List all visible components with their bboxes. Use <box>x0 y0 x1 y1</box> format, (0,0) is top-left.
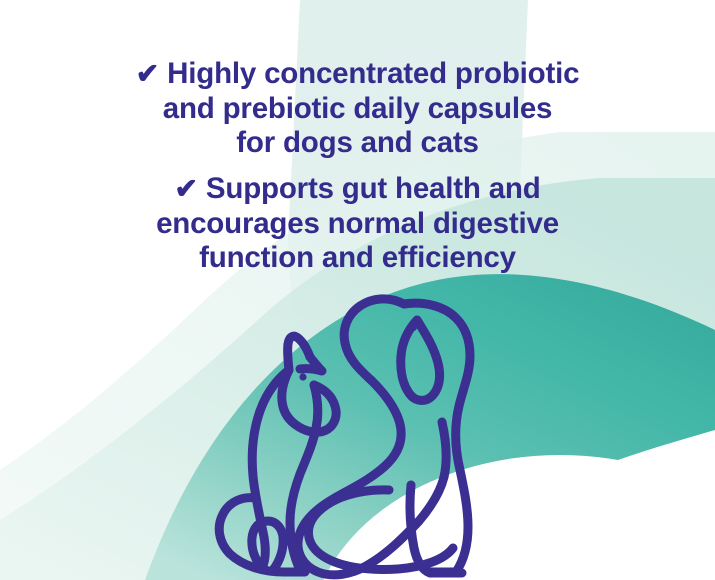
bullet-2-line-2: encourages normal digestive <box>60 207 655 242</box>
check-mark-icon: ✔ <box>174 173 197 204</box>
bullet-1-line-3: for dogs and cats <box>60 126 655 161</box>
bullet-1-line-2: and prebiotic daily capsules <box>60 92 655 127</box>
cat-spine <box>252 370 289 568</box>
cat-ear-left <box>288 336 310 370</box>
check-mark-icon: ✔ <box>136 58 159 89</box>
bullet-2-line-3: function and efficiency <box>60 241 655 276</box>
bullet-2-text-1: Supports gut health and <box>206 172 541 205</box>
bullet-2-line-1: ✔ Supports gut health and <box>60 172 655 207</box>
dog-front-leg <box>410 485 462 573</box>
cat-ear-right <box>300 357 322 371</box>
dog-muzzle-underline <box>419 422 446 521</box>
cat-hind-leg <box>252 521 283 570</box>
white-crescent-cutout <box>444 430 715 580</box>
dog-ear <box>401 320 440 400</box>
white-ellipse-cutout <box>310 455 715 580</box>
feature-bullet-1: ✔ Highly concentrated probiotic and preb… <box>60 57 655 161</box>
dog-eye <box>409 323 417 331</box>
bullet-1-line-1: ✔ Highly concentrated probiotic <box>60 57 655 92</box>
dog-back-and-hind <box>404 303 470 572</box>
cat-eye <box>299 373 306 380</box>
cat-chest-and-foreleg <box>290 385 318 570</box>
feature-bullet-2: ✔ Supports gut health and encourages nor… <box>60 172 655 276</box>
bullet-1-text-1: Highly concentrated probiotic <box>167 57 579 90</box>
cat-tail <box>219 498 305 572</box>
dog-tail <box>308 490 453 570</box>
cat-head-and-back <box>282 370 336 432</box>
teal-crescent-wave <box>145 274 715 580</box>
feature-panel: ✔ Highly concentrated probiotic and preb… <box>0 0 715 580</box>
dog-body-outline <box>298 299 419 575</box>
